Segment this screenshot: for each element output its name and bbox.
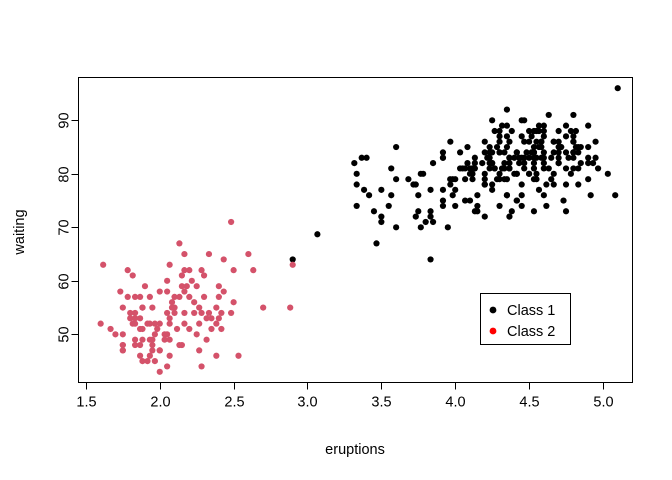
data-point	[533, 139, 539, 145]
data-point	[415, 192, 421, 198]
data-point	[147, 353, 153, 359]
data-point	[235, 353, 241, 359]
data-point	[201, 272, 207, 278]
data-point	[373, 240, 379, 246]
data-point	[139, 358, 145, 364]
data-point	[440, 187, 446, 193]
data-point	[504, 144, 510, 150]
data-point	[290, 262, 296, 268]
data-point	[198, 267, 204, 273]
data-point	[149, 342, 155, 348]
data-point	[196, 321, 202, 327]
data-point	[194, 331, 200, 337]
data-point	[533, 171, 539, 177]
data-point	[541, 149, 547, 155]
data-point	[570, 133, 576, 139]
data-point	[506, 214, 512, 220]
data-point	[556, 160, 562, 166]
data-point	[142, 283, 148, 289]
data-point	[519, 155, 525, 161]
data-point	[393, 144, 399, 150]
data-point	[157, 321, 163, 327]
y-tick-label-90: 90	[57, 112, 73, 128]
y-tick-label-80: 80	[57, 166, 73, 182]
x-tick-label-5.0: 5.0	[593, 395, 613, 411]
data-point	[509, 128, 515, 134]
data-point	[196, 347, 202, 353]
data-point	[533, 128, 539, 134]
data-point	[423, 219, 429, 225]
data-point	[452, 203, 458, 209]
data-point	[514, 197, 520, 203]
data-point	[418, 224, 424, 230]
y-tick-label-60: 60	[57, 273, 73, 289]
data-point	[590, 160, 596, 166]
figure-background	[0, 0, 672, 480]
data-point	[592, 155, 598, 161]
data-point	[509, 208, 515, 214]
data-point	[218, 326, 224, 332]
data-point	[474, 192, 480, 198]
data-point	[139, 326, 145, 332]
data-point	[351, 160, 357, 166]
data-point	[127, 315, 133, 321]
data-point	[196, 304, 202, 310]
data-point	[221, 256, 227, 262]
data-point	[592, 139, 598, 145]
data-point	[147, 294, 153, 300]
data-point	[427, 187, 433, 193]
data-point	[489, 160, 495, 166]
data-point	[393, 224, 399, 230]
data-point	[184, 283, 190, 289]
data-point	[410, 181, 416, 187]
data-point	[154, 326, 160, 332]
data-point	[203, 337, 209, 343]
data-point	[378, 219, 384, 225]
data-point	[206, 310, 212, 316]
data-point	[504, 176, 510, 182]
data-point	[189, 278, 195, 284]
data-point	[139, 304, 145, 310]
data-point	[496, 171, 502, 177]
data-point	[171, 310, 177, 316]
data-point	[519, 192, 525, 198]
data-point	[98, 321, 104, 327]
data-point	[201, 294, 207, 300]
data-point	[570, 155, 576, 161]
data-point	[137, 342, 143, 348]
data-point	[167, 321, 173, 327]
data-point	[167, 262, 173, 268]
data-point	[152, 358, 158, 364]
data-point	[427, 214, 433, 220]
data-point	[519, 117, 525, 123]
data-point	[132, 321, 138, 327]
x-tick-label-3.0: 3.0	[297, 395, 317, 411]
data-point	[420, 171, 426, 177]
data-point	[588, 192, 594, 198]
data-point	[194, 283, 200, 289]
data-point	[149, 347, 155, 353]
data-point	[457, 165, 463, 171]
data-point	[506, 160, 512, 166]
data-point	[563, 165, 569, 171]
data-point	[250, 267, 256, 273]
data-point	[125, 294, 131, 300]
data-point	[469, 176, 475, 182]
data-point	[482, 139, 488, 145]
data-point	[354, 203, 360, 209]
data-point	[132, 310, 138, 316]
data-point	[487, 165, 493, 171]
data-point	[216, 315, 222, 321]
data-point	[457, 149, 463, 155]
data-point	[164, 288, 170, 294]
data-point	[216, 283, 222, 289]
data-point	[578, 160, 584, 166]
x-tick-label-4.0: 4.0	[445, 395, 465, 411]
data-point	[164, 363, 170, 369]
data-point	[393, 176, 399, 182]
data-point	[191, 299, 197, 305]
data-point	[568, 128, 574, 134]
data-point	[467, 171, 473, 177]
data-point	[563, 133, 569, 139]
data-point	[260, 304, 266, 310]
plot-canvas: 1.52.02.53.03.54.04.55.0 5060708090 erup…	[0, 0, 672, 480]
data-point	[167, 315, 173, 321]
legend-marker-class-2	[490, 328, 497, 335]
data-point	[489, 187, 495, 193]
y-tick-label-70: 70	[57, 219, 73, 235]
x-axis-title: eruptions	[325, 442, 385, 458]
data-point	[228, 219, 234, 225]
data-point	[494, 176, 500, 182]
legend[interactable]: Class 1 Class 2	[481, 294, 571, 345]
data-point	[415, 208, 421, 214]
data-point	[164, 310, 170, 316]
y-axis-title: waiting	[12, 209, 28, 255]
data-point	[125, 267, 131, 273]
data-point	[514, 149, 520, 155]
data-point	[506, 139, 512, 145]
data-point	[585, 123, 591, 129]
data-point	[538, 144, 544, 150]
data-point	[523, 149, 529, 155]
data-point	[157, 369, 163, 375]
data-point	[440, 197, 446, 203]
data-point	[563, 123, 569, 129]
data-point	[218, 310, 224, 316]
data-point	[556, 128, 562, 134]
data-point	[388, 165, 394, 171]
data-point	[506, 155, 512, 161]
data-point	[472, 208, 478, 214]
data-point	[511, 171, 517, 177]
data-point	[452, 187, 458, 193]
data-point	[181, 267, 187, 273]
data-point	[526, 171, 532, 177]
data-point	[176, 240, 182, 246]
data-point	[563, 181, 569, 187]
data-point	[290, 256, 296, 262]
data-point	[179, 272, 185, 278]
data-point	[546, 112, 552, 118]
data-point	[531, 208, 537, 214]
x-tick-label-1.5: 1.5	[76, 395, 96, 411]
data-point	[556, 155, 562, 161]
data-point	[117, 288, 123, 294]
data-point	[585, 155, 591, 161]
data-point	[548, 176, 554, 182]
data-point	[363, 155, 369, 161]
data-point	[556, 139, 562, 145]
data-point	[245, 251, 251, 257]
data-point	[440, 149, 446, 155]
data-point	[556, 144, 562, 150]
data-point	[489, 149, 495, 155]
data-point	[107, 326, 113, 332]
data-point	[531, 165, 537, 171]
data-point	[354, 171, 360, 177]
data-point	[462, 176, 468, 182]
data-point	[519, 133, 525, 139]
data-point	[231, 267, 237, 273]
data-point	[543, 181, 549, 187]
data-point	[489, 117, 495, 123]
data-point	[206, 251, 212, 257]
data-point	[595, 165, 601, 171]
data-point	[120, 347, 126, 353]
data-point	[570, 112, 576, 118]
data-point	[560, 197, 566, 203]
data-point	[563, 208, 569, 214]
data-point	[541, 123, 547, 129]
data-point	[445, 224, 451, 230]
data-point	[487, 144, 493, 150]
data-point	[137, 315, 143, 321]
data-point	[482, 181, 488, 187]
data-point	[361, 187, 367, 193]
data-point	[450, 192, 456, 198]
data-point	[548, 155, 554, 161]
data-point	[541, 133, 547, 139]
data-point	[388, 192, 394, 198]
data-point	[499, 123, 505, 129]
data-point	[169, 304, 175, 310]
data-point	[174, 326, 180, 332]
data-point	[181, 251, 187, 257]
data-point	[208, 326, 214, 332]
data-point	[186, 326, 192, 332]
data-point	[354, 181, 360, 187]
data-point	[546, 165, 552, 171]
legend-label-class-2: Class 2	[507, 324, 555, 340]
data-point	[208, 315, 214, 321]
y-tick-label-50: 50	[57, 326, 73, 342]
data-point	[533, 155, 539, 161]
data-point	[176, 342, 182, 348]
data-point	[181, 310, 187, 316]
data-point	[144, 321, 150, 327]
data-point	[496, 203, 502, 209]
data-point	[575, 181, 581, 187]
data-point	[120, 342, 126, 348]
data-point	[181, 321, 187, 327]
data-point	[157, 347, 163, 353]
data-point	[551, 181, 557, 187]
data-point	[167, 337, 173, 343]
data-point	[492, 128, 498, 134]
data-point	[386, 203, 392, 209]
data-point	[157, 288, 163, 294]
data-point	[504, 192, 510, 198]
data-point	[504, 107, 510, 113]
data-point	[186, 294, 192, 300]
data-point	[563, 149, 569, 155]
data-point	[568, 171, 574, 177]
data-point	[447, 139, 453, 145]
x-tick-label-2.0: 2.0	[150, 395, 170, 411]
data-point	[366, 192, 372, 198]
data-point	[378, 187, 384, 193]
data-point	[482, 171, 488, 177]
data-point	[536, 187, 542, 193]
data-point	[496, 139, 502, 145]
data-point	[605, 171, 611, 177]
data-point	[191, 310, 197, 316]
data-point	[450, 176, 456, 182]
data-point	[472, 155, 478, 161]
data-point	[405, 176, 411, 182]
x-tick-label-4.5: 4.5	[519, 395, 539, 411]
data-point	[430, 160, 436, 166]
data-point	[132, 294, 138, 300]
data-point	[120, 304, 126, 310]
data-point	[149, 304, 155, 310]
data-point	[556, 149, 562, 155]
data-point	[169, 299, 175, 305]
data-point	[427, 256, 433, 262]
data-point	[484, 155, 490, 161]
data-point	[472, 165, 478, 171]
data-point	[137, 353, 143, 359]
data-point	[213, 321, 219, 327]
data-point	[479, 160, 485, 166]
data-point	[139, 337, 145, 343]
data-point	[533, 176, 539, 182]
data-point	[489, 181, 495, 187]
data-point	[198, 363, 204, 369]
data-point	[149, 337, 155, 343]
data-point	[570, 149, 576, 155]
data-point	[496, 149, 502, 155]
data-point	[585, 144, 591, 150]
data-point	[198, 310, 204, 316]
data-point	[213, 304, 219, 310]
data-point	[440, 155, 446, 161]
data-point	[427, 208, 433, 214]
data-point	[231, 299, 237, 305]
data-point	[167, 353, 173, 359]
data-point	[464, 160, 470, 166]
data-point	[612, 192, 618, 198]
data-point	[482, 149, 488, 155]
data-point	[575, 165, 581, 171]
data-point	[531, 149, 537, 155]
data-point	[541, 155, 547, 161]
data-point	[176, 294, 182, 300]
data-point	[482, 176, 488, 182]
data-point	[221, 288, 227, 294]
data-point	[472, 160, 478, 166]
data-point	[526, 139, 532, 145]
data-point	[413, 214, 419, 220]
data-point	[551, 171, 557, 177]
data-point	[506, 165, 512, 171]
data-point	[378, 214, 384, 220]
data-point	[541, 160, 547, 166]
data-point	[570, 139, 576, 145]
data-point	[519, 203, 525, 209]
data-point	[464, 144, 470, 150]
data-point	[529, 133, 535, 139]
data-point	[516, 160, 522, 166]
data-point	[130, 272, 136, 278]
data-point	[543, 203, 549, 209]
data-point	[521, 165, 527, 171]
data-point	[120, 331, 126, 337]
data-point	[213, 353, 219, 359]
data-point	[112, 331, 118, 337]
scatter-plot-figure: 1.52.02.53.03.54.04.55.0 5060708090 erup…	[0, 0, 672, 480]
data-point	[164, 331, 170, 337]
data-point	[494, 144, 500, 150]
data-point	[228, 310, 234, 316]
x-tick-label-2.5: 2.5	[224, 395, 244, 411]
data-point	[100, 262, 106, 268]
data-point	[519, 181, 525, 187]
legend-marker-class-1	[490, 307, 497, 314]
data-point	[181, 288, 187, 294]
data-point	[371, 208, 377, 214]
data-point	[164, 278, 170, 284]
data-point	[132, 337, 138, 343]
data-point	[447, 181, 453, 187]
data-point	[541, 192, 547, 198]
data-point	[531, 160, 537, 166]
data-point	[314, 231, 320, 237]
x-tick-label-3.5: 3.5	[371, 395, 391, 411]
data-point	[504, 133, 510, 139]
data-point	[430, 219, 436, 225]
data-point	[482, 214, 488, 220]
data-point	[462, 197, 468, 203]
data-point	[578, 144, 584, 150]
data-point	[496, 133, 502, 139]
data-point	[474, 203, 480, 209]
data-point	[615, 85, 621, 91]
data-point	[152, 331, 158, 337]
data-point	[216, 294, 222, 300]
data-point	[287, 304, 293, 310]
legend-label-class-1: Class 1	[507, 303, 555, 319]
data-point	[440, 203, 446, 209]
data-point	[585, 176, 591, 182]
